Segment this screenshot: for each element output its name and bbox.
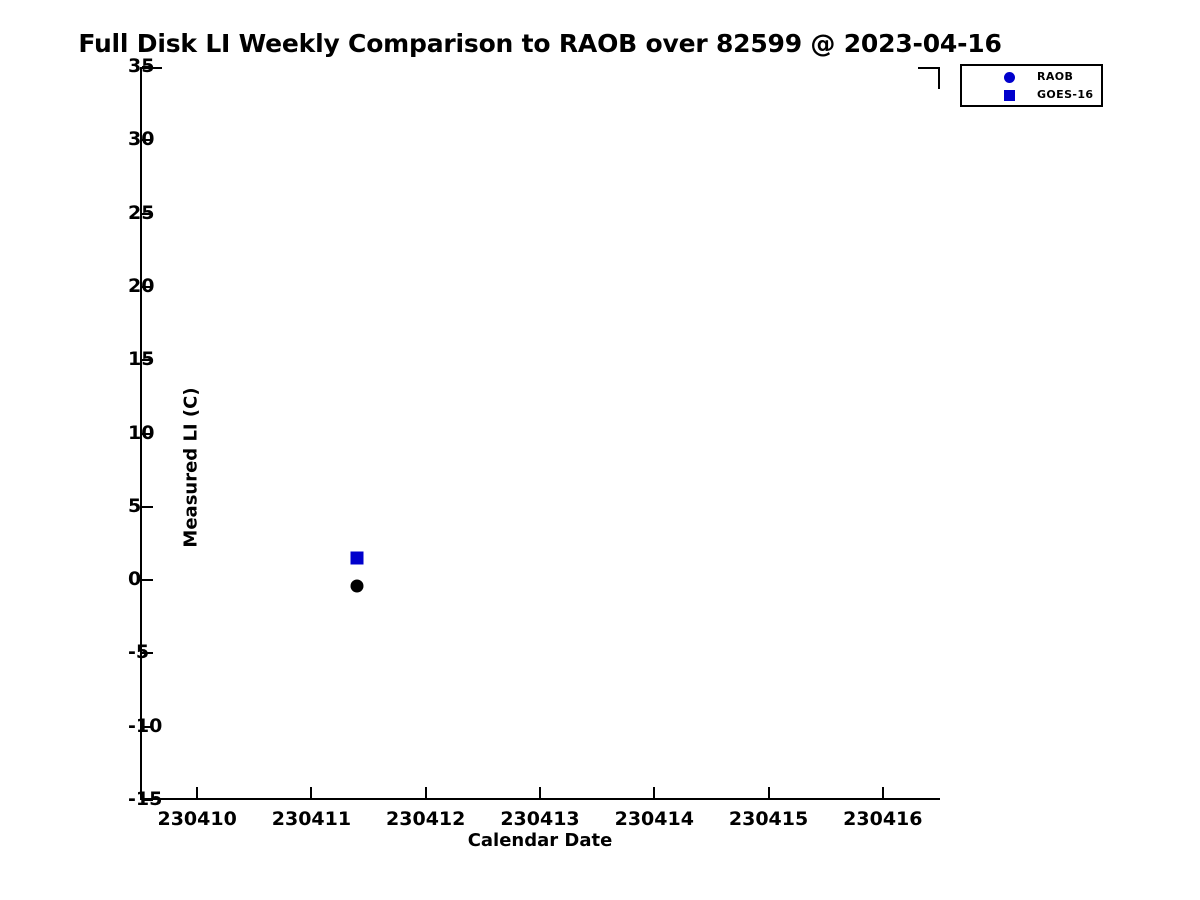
x-tick-230415 [768, 787, 770, 798]
axis-spine-bottom [140, 798, 940, 800]
x-tick-230412 [425, 787, 427, 798]
x-tick-label-230410: 230410 [157, 808, 236, 830]
axis-corner-top-right [918, 67, 940, 69]
legend-label-raob: RAOB [1037, 70, 1073, 83]
x-axis-title: Calendar Date [140, 830, 940, 851]
axis-corner-right-top [938, 67, 940, 89]
legend-entry-raob[interactable]: RAOB [962, 68, 1101, 86]
legend-marker-circle-icon [1004, 72, 1015, 83]
y-axis-title: Measured LI (C) [181, 387, 202, 547]
legend-marker-square-icon [1004, 90, 1015, 101]
data-point-goes-16 [351, 552, 364, 565]
x-tick-230413 [539, 787, 541, 798]
x-tick-label-230413: 230413 [500, 808, 579, 830]
x-tick-label-230415: 230415 [729, 808, 808, 830]
x-tick-230416 [882, 787, 884, 798]
chart-legend: RAOBGOES-16 [960, 64, 1103, 107]
data-point-raob [351, 579, 364, 592]
x-tick-230414 [653, 787, 655, 798]
x-tick-230411 [310, 787, 312, 798]
x-tick-label-230416: 230416 [843, 808, 922, 830]
x-tick-label-230414: 230414 [615, 808, 694, 830]
legend-label-goes-16: GOES-16 [1037, 88, 1094, 101]
y-tick-5 [142, 506, 153, 508]
page-title: Full Disk LI Weekly Comparison to RAOB o… [0, 29, 1080, 58]
x-tick-label-230412: 230412 [386, 808, 465, 830]
legend-entry-goes-16[interactable]: GOES-16 [962, 86, 1101, 104]
y-tick-0 [142, 579, 153, 581]
x-tick-label-230411: 230411 [272, 808, 351, 830]
plot-area: 35302520151050-5-10-15 23041023041123041… [140, 67, 940, 800]
x-tick-230410 [196, 787, 198, 798]
